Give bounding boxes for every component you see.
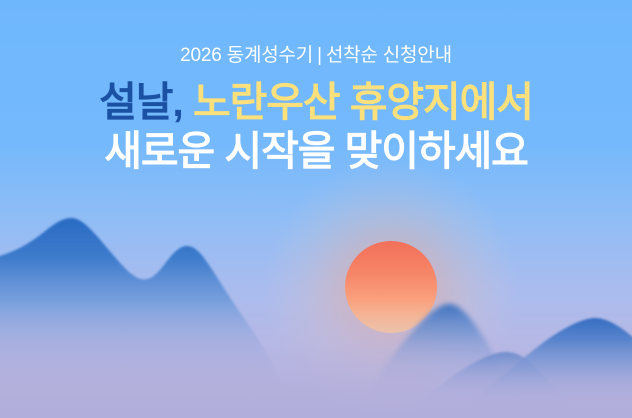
ground-haze	[0, 300, 632, 418]
scenery-illustration	[0, 0, 632, 418]
promo-banner: 2026 동계성수기|선착순 신청안내 설날, 노란우산 휴양지에서 새로운 시…	[0, 0, 632, 418]
